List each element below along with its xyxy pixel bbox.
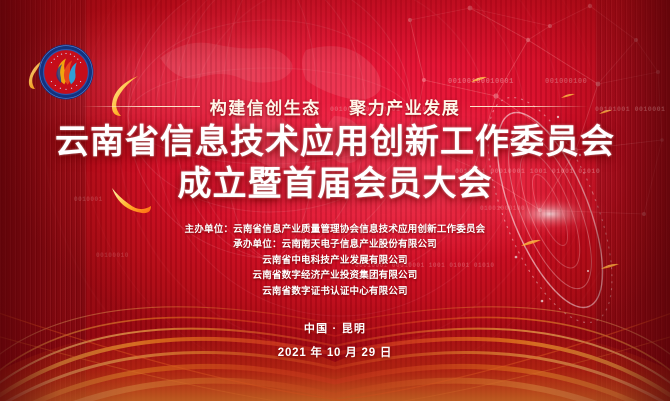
organizer-line: 云南省数字经济产业投资集团有限公司: [0, 268, 670, 283]
event-date: 2021 年 10 月 29 日: [0, 344, 670, 360]
poster-title: 云南省信息技术应用创新工作委员会 成立暨首届会员大会: [0, 123, 670, 203]
event-place-date: 中国 · 昆明 2021 年 10 月 29 日: [0, 320, 670, 360]
slogan-rule-right: [470, 106, 588, 107]
organizer-line: 承办单位：云南南天电子信息产业股份有限公司: [0, 237, 670, 252]
organizer-block: 主办单位：云南省信息产业质量管理协会信息技术应用创新工作委员会 承办单位：云南南…: [0, 222, 670, 299]
slogan-rule-left: [82, 106, 200, 107]
event-location: 中国 · 昆明: [0, 320, 670, 336]
organizer-line: 云南省中电科技产业发展有限公司: [0, 253, 670, 268]
organizer-line: 云南省数字证书认证中心有限公司: [0, 284, 670, 299]
title-line-1: 云南省信息技术应用创新工作委员会: [0, 123, 670, 161]
organizer-line: 主办单位：云南省信息产业质量管理协会信息技术应用创新工作委员会: [0, 222, 670, 237]
conference-poster: 0010001 00010001 10010001001001000100010…: [0, 0, 670, 401]
slogan-left: 构建信创生态: [210, 99, 321, 118]
slogan-right: 聚力产业发展: [349, 99, 460, 118]
slogan-row: 构建信创生态 聚力产业发展: [0, 94, 670, 119]
slogan-text: 构建信创生态 聚力产业发展: [210, 94, 460, 119]
title-line-2: 成立暨首届会员大会: [0, 165, 670, 203]
